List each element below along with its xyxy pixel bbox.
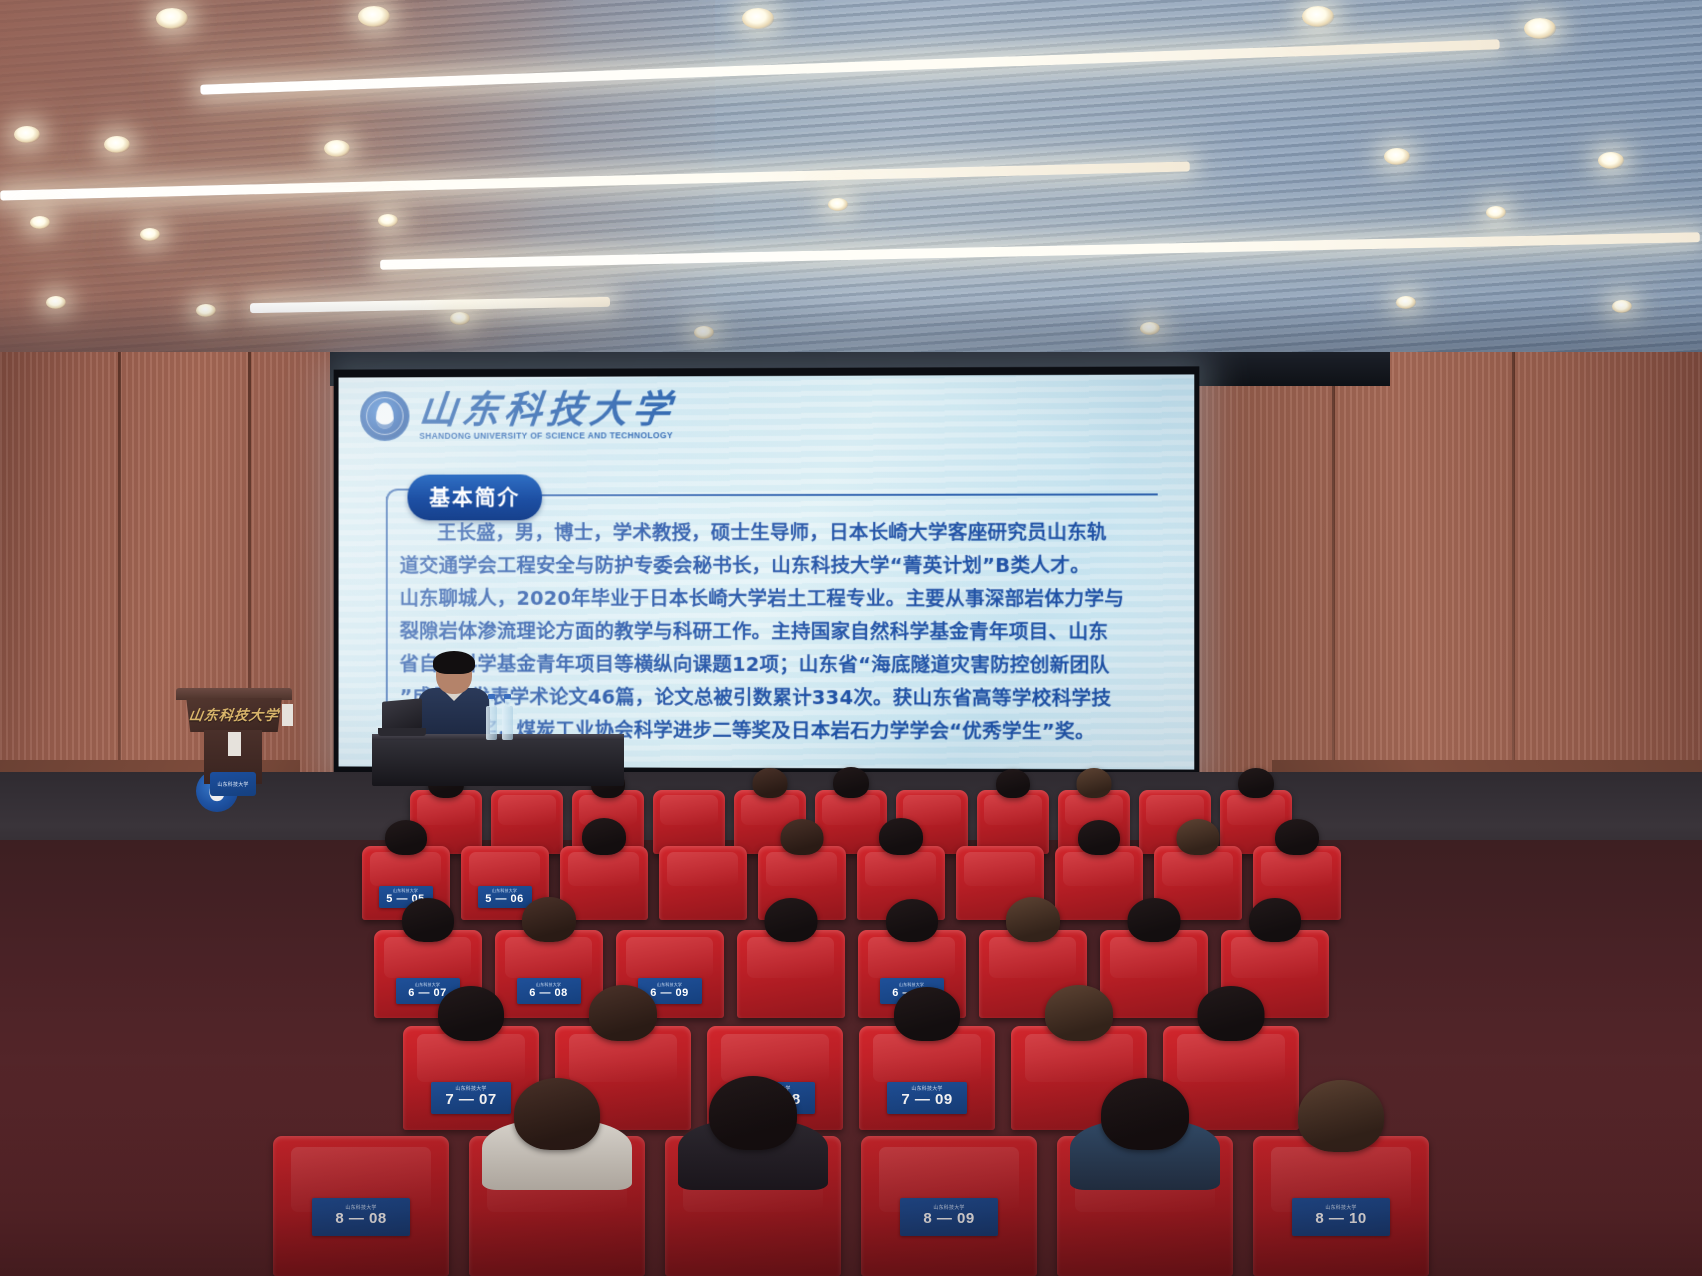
ceiling-downlight: [1486, 206, 1506, 219]
seat-row: 山东科技大学 6 — 07 山东科技大学 6 — 08 山东科技大学 6 — 0…: [0, 930, 1702, 1018]
ceiling-downlight: [828, 198, 848, 211]
podium-pad: [282, 704, 293, 726]
attendee-head: [1176, 819, 1219, 855]
seat-plate-number: 8 — 10: [1315, 1211, 1366, 1228]
slide-frame-horizontal-rule: [457, 493, 1158, 496]
attendee-head: [780, 819, 823, 855]
attendee-head: [833, 767, 869, 798]
seat-plate-number: 8 — 08: [335, 1211, 386, 1228]
attendee-head: [1006, 897, 1060, 942]
seat[interactable]: [665, 1136, 841, 1276]
water-bottle: [502, 694, 513, 740]
ceiling-downlight: [140, 228, 160, 241]
podium-university-text: 山东科技大学: [188, 705, 281, 725]
speaker-person: [414, 654, 494, 740]
seat-number-plate: 山东科技大学 5 — 06: [478, 886, 532, 908]
ceiling-downlight: [14, 126, 40, 143]
ceiling-downlight: [30, 216, 50, 229]
seat[interactable]: 山东科技大学 8 — 10: [1253, 1136, 1429, 1276]
slide-section-badge: 基本简介: [408, 474, 542, 520]
seat-number-plate: 山东科技大学 7 — 07: [431, 1082, 511, 1114]
seat-plate-number: 6 — 07: [408, 987, 446, 999]
seat-row: [0, 790, 1702, 854]
speaker-hair: [433, 651, 475, 674]
university-name-block: 山东科技大学 SHANDONG UNIVERSITY OF SCIENCE AN…: [419, 391, 675, 440]
seat-plate-number: 7 — 07: [445, 1092, 496, 1109]
seat[interactable]: [653, 790, 725, 854]
laptop-screen: [382, 698, 422, 731]
laptop: [378, 700, 424, 740]
seat-plate-number: 5 — 06: [485, 893, 523, 905]
podium-nameplate: 山东科技大学: [210, 772, 256, 796]
podium-pad: [228, 732, 241, 756]
seat-row: 山东科技大学 8 — 08 山东科技大学 8 — 09 山东科技大学 8 — 1: [0, 1136, 1702, 1276]
attendee-head: [764, 898, 817, 942]
seal-ring: [366, 397, 403, 435]
podium-nameplate-text: 山东科技大学: [217, 781, 248, 788]
podium-front-panel: 山东科技大学: [182, 698, 286, 732]
water-bottle: [486, 694, 497, 740]
ceiling-downlight: [1384, 148, 1410, 165]
ceiling-downlight: [378, 214, 398, 227]
university-name-cn: 山东科技大学: [417, 391, 677, 430]
bottle-cap: [488, 694, 495, 699]
slide-section-badge-row: 基本简介: [408, 474, 542, 520]
attendee-head: [1249, 898, 1301, 942]
slide-body-text: 王长盛，男，博士，学术教授，硕士生导师，日本长崎大学客座研究员山东轨 道交通学会…: [400, 518, 1178, 748]
slide-body-line: 省自然科学基金青年项目等横纵向课题12项；山东省“海底隧道灾害防控创新团队: [400, 649, 1178, 680]
seat-plate-number: 6 — 08: [529, 987, 567, 999]
seat-number-plate: 山东科技大学 8 — 09: [900, 1198, 998, 1236]
seat[interactable]: [469, 1136, 645, 1276]
attendee-head: [1077, 768, 1112, 798]
attendee-head: [1045, 985, 1113, 1041]
ceiling-downlight: [156, 8, 188, 29]
seat-plate-number: 7 — 09: [901, 1092, 952, 1109]
attendee-head: [582, 818, 626, 855]
seat[interactable]: [1057, 1136, 1233, 1276]
attendee-head: [522, 897, 576, 942]
university-seal-icon: [360, 391, 409, 441]
podium: 山东科技大学 山东科技大学: [176, 688, 292, 784]
seat-number-plate: 山东科技大学 8 — 10: [1292, 1198, 1390, 1236]
seat[interactable]: 山东科技大学 7 — 09: [859, 1026, 995, 1130]
attendee-head: [886, 899, 938, 942]
ceiling-downlight: [1302, 6, 1334, 27]
seat-row: 山东科技大学 5 — 05 山东科技大学 5 — 06: [0, 846, 1702, 920]
attendee-head: [1275, 819, 1319, 855]
attendee-head: [1298, 1080, 1384, 1152]
attendee-head: [1238, 768, 1274, 798]
seat-number-plate: 山东科技大学 7 — 09: [887, 1082, 967, 1114]
seat[interactable]: [1100, 930, 1208, 1018]
attendee-head: [879, 818, 923, 855]
seat-plate-number: 6 — 09: [650, 987, 688, 999]
attendee-head: [402, 898, 454, 942]
attendee-head: [1198, 986, 1265, 1041]
slide-header: 山东科技大学 SHANDONG UNIVERSITY OF SCIENCE AN…: [360, 390, 675, 441]
laptop-keyboard: [378, 728, 426, 736]
ceiling-downlight: [1524, 18, 1556, 39]
ceiling-downlight: [1598, 152, 1624, 169]
seat[interactable]: [737, 930, 845, 1018]
seat[interactable]: 山东科技大学 8 — 09: [861, 1136, 1037, 1276]
slide-body-line: ”成员，发表学术论文46篇，论文总被引数累计334次。获山东省高等学校科学技: [400, 682, 1178, 714]
bottle-neck: [505, 698, 510, 707]
ceiling: [0, 0, 1702, 400]
bottle-body: [486, 706, 497, 740]
slide-body-line: 裂隙岩体渗流理论方面的教学与科研工作。主持国家自然科学基金青年项目、山东: [400, 617, 1178, 648]
seat-number-plate: 山东科技大学 8 — 08: [312, 1198, 410, 1236]
attendee-head: [709, 1076, 797, 1150]
attendee-head: [996, 769, 1030, 798]
seat[interactable]: 山东科技大学 8 — 08: [273, 1136, 449, 1276]
attendee-head: [438, 986, 504, 1041]
ceiling-downlight: [358, 6, 390, 27]
slide-body-line: 山东聊城人，2020年毕业于日本长崎大学岩土工程专业。主要从事深部岩体力学与: [400, 584, 1178, 614]
presenter-desk: [372, 734, 624, 786]
attendee-head: [514, 1078, 600, 1150]
seat[interactable]: [491, 790, 563, 854]
slide-body-line: 道交通学会工程安全与防护专委会秘书长，山东科技大学“菁英计划”B类人才。: [400, 551, 1178, 581]
attendee-head: [589, 985, 657, 1041]
seat[interactable]: [815, 790, 887, 854]
ceiling-downlight: [104, 136, 130, 153]
university-name-en: SHANDONG UNIVERSITY OF SCIENCE AND TECHN…: [419, 431, 675, 440]
bottle-neck: [489, 698, 494, 707]
bottle-body: [502, 706, 513, 740]
seat[interactable]: 山东科技大学 6 — 08: [495, 930, 603, 1018]
attendee-head: [385, 820, 427, 855]
attendee-head: [1127, 898, 1180, 942]
seat-plate-number: 8 — 09: [923, 1211, 974, 1228]
attendee-head: [894, 987, 960, 1041]
seat[interactable]: [659, 846, 747, 920]
bottle-cap: [504, 694, 511, 699]
ceiling-downlight: [742, 8, 774, 29]
attendee-head: [753, 768, 788, 798]
seat-row: 山东科技大学 7 — 07 山东科技大学 7 — 08 山东科技大学 7 — 0…: [0, 1026, 1702, 1130]
lecture-hall-photo: 山东科技大学 SHANDONG UNIVERSITY OF SCIENCE AN…: [0, 0, 1702, 1276]
attendee-head: [1078, 820, 1120, 855]
seat[interactable]: [977, 790, 1049, 854]
seat-number-plate: 山东科技大学 6 — 08: [517, 978, 581, 1004]
attendee-head: [1101, 1078, 1189, 1150]
slide-body-line: 王长盛，男，博士，学术教授，硕士生导师，日本长崎大学客座研究员山东轨: [400, 518, 1178, 549]
ceiling-downlight: [324, 140, 350, 157]
